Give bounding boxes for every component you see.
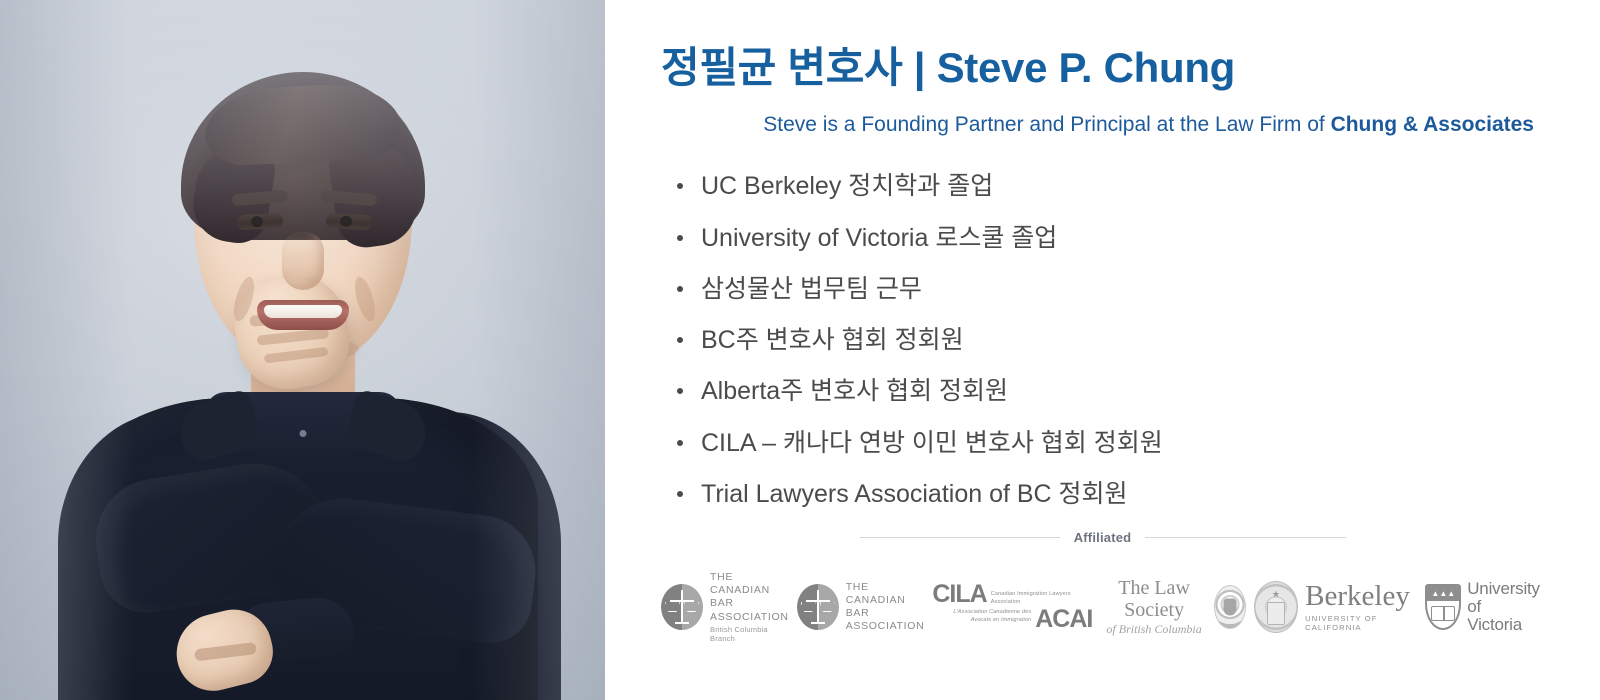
logo-line-1: University (1467, 580, 1540, 598)
scales-of-justice-icon (797, 584, 839, 630)
cila-acronym: CILA (932, 583, 986, 607)
cila-subtitle-fr: L'Association Canadienne des Avocats en … (932, 608, 1031, 625)
logo-university-of-victoria: ▲▲▲ University of Victoria (1425, 580, 1540, 634)
photo-vignette (0, 0, 605, 700)
logo-uc-berkeley: Berkeley UNIVERSITY OF CALIFORNIA (1254, 581, 1418, 633)
scales-of-justice-icon (661, 584, 703, 630)
list-item: Alberta주 변호사 협회 정회원 (675, 376, 1544, 407)
profile-content: 정필균 변호사 | Steve P. Chung Steve is a Foun… (605, 0, 1600, 700)
berkeley-seal-icon (1254, 581, 1298, 633)
logo-line-3: British Columbia Branch (710, 625, 789, 644)
logo-line-2: of Victoria (1467, 598, 1540, 634)
logo-canadian-bar-association-bc: THE CANADIAN BAR ASSOCIATION British Col… (661, 571, 789, 643)
shield-open-book (1431, 606, 1455, 621)
logo-line-2: UNIVERSITY OF CALIFORNIA (1305, 614, 1417, 632)
logo-law-society-bc: The Law Society of British Columbia (1100, 577, 1245, 637)
logo-line-1: Berkeley (1305, 582, 1417, 611)
list-item: UC Berkeley 정치학과 졸업 (675, 171, 1544, 202)
list-item: University of Victoria 로스쿨 졸업 (675, 223, 1544, 254)
logo-text: THE CANADIAN BAR ASSOCIATION British Col… (710, 571, 789, 643)
list-item: 삼성물산 법무팀 근무 (675, 274, 1544, 305)
logo-line-2: BAR ASSOCIATION (710, 597, 789, 623)
logo-line-2: BAR ASSOCIATION (846, 607, 925, 633)
royal-crest-icon (1214, 585, 1246, 629)
credentials-list: UC Berkeley 정치학과 졸업 University of Victor… (661, 171, 1544, 510)
acai-acronym: ACAI (1035, 608, 1092, 632)
list-item: Trial Lawyers Association of BC 정회원 (675, 479, 1544, 510)
logo-line-1: THE CANADIAN (710, 571, 789, 597)
portrait-photo (0, 0, 605, 700)
firm-name: Chung & Associates (1331, 113, 1534, 136)
subtitle-text: Steve is a Founding Partner and Principa… (763, 113, 1330, 136)
profile-subtitle: Steve is a Founding Partner and Principa… (661, 111, 1544, 139)
logo-line-1: The Law Society (1100, 577, 1207, 621)
logo-line-1: THE CANADIAN (846, 581, 925, 607)
logo-text: University of Victoria (1467, 580, 1540, 634)
profile-banner: 정필균 변호사 | Steve P. Chung Steve is a Foun… (0, 0, 1600, 700)
list-item: BC주 변호사 협회 정회원 (675, 325, 1544, 356)
list-item: CILA – 캐나다 연방 이민 변호사 협회 정회원 (675, 428, 1544, 459)
uvic-shield-icon: ▲▲▲ (1425, 584, 1461, 630)
affiliated-label: Affiliated (1074, 530, 1132, 545)
logo-canadian-bar-association: THE CANADIAN BAR ASSOCIATION (797, 581, 925, 634)
logo-line-2: of British Columbia (1100, 622, 1207, 637)
divider-rule-left (860, 537, 1060, 538)
affiliation-logos: THE CANADIAN BAR ASSOCIATION British Col… (661, 571, 1544, 643)
divider-rule-right (1145, 537, 1345, 538)
page-title: 정필균 변호사 | Steve P. Chung (661, 44, 1544, 91)
logo-text: Berkeley UNIVERSITY OF CALIFORNIA (1305, 582, 1417, 632)
logo-cila-acai: CILA Canadian Immigration Lawyers Associ… (932, 583, 1092, 632)
affiliated-divider: Affiliated (860, 530, 1346, 545)
logo-text: THE CANADIAN BAR ASSOCIATION (846, 581, 925, 634)
shield-birds: ▲▲▲ (1427, 586, 1459, 601)
logo-text: The Law Society of British Columbia (1100, 577, 1207, 637)
